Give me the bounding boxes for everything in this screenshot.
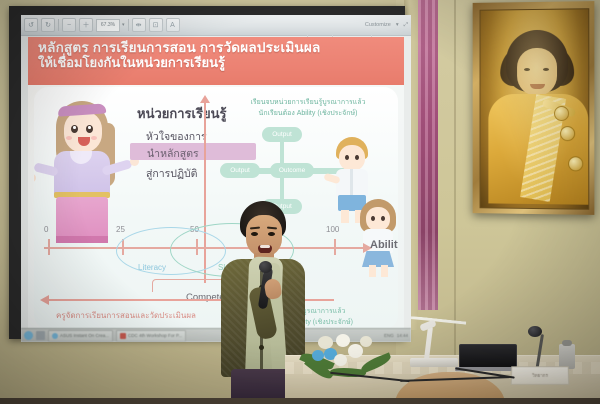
taskbar-item-label: CDC 4th Workshop For P... xyxy=(128,333,182,338)
floor xyxy=(0,398,600,404)
taskbar-item-pdf[interactable]: CDC 4th Workshop For P... xyxy=(116,330,186,342)
unit-line-2: นำหลักสูตร xyxy=(147,145,199,162)
girl-eye-right xyxy=(381,216,385,221)
presenter-eye-right xyxy=(268,232,275,236)
taskbar-item-asus[interactable]: ASUS Instant On Crea... xyxy=(48,330,113,342)
axis-tick xyxy=(48,239,50,255)
girl-eye-left xyxy=(371,216,375,221)
acrobat-toolbar[interactable]: ↺ ↻ − ＋ 67.3% ▾ ⇹ ⊡ A Customize ▾ ⤢ xyxy=(21,15,411,36)
toolbar-separator xyxy=(58,19,59,31)
flower-bloom xyxy=(334,354,347,366)
toolbar-right-group: Customize ▾ ⤢ xyxy=(365,22,408,29)
girl-cartoon xyxy=(356,199,398,277)
cartoon-cheek-right xyxy=(91,136,97,140)
unit-line-3: สู่การปฏิบัติ xyxy=(146,165,198,182)
browser-icon[interactable] xyxy=(24,331,33,340)
flower-bloom xyxy=(360,336,372,347)
girl-leg-left xyxy=(369,265,376,277)
axis-label-ability: Ability xyxy=(370,239,398,251)
diagram-stem-bottom xyxy=(280,177,284,201)
axis-tick-label: 100 xyxy=(326,225,339,234)
chevron-down-icon[interactable]: ▾ xyxy=(396,22,399,28)
zoom-control[interactable]: 67.3% ▾ xyxy=(96,19,125,32)
tray-clock[interactable]: 14:44 xyxy=(397,333,408,338)
diagram-node-output-left: Output xyxy=(220,163,260,178)
boy-shirt xyxy=(336,169,368,197)
girl-skirt xyxy=(362,251,394,267)
axis-tick-label: 0 xyxy=(44,225,48,234)
cartoon-cheek-left xyxy=(66,136,72,140)
unit-heading: หน่วยการเรียนรู้ xyxy=(137,103,226,124)
fit-width-icon[interactable]: ⇹ xyxy=(132,18,146,32)
flower-bloom xyxy=(348,344,363,358)
slide-title-banner: หลักสูตร การเรียนการสอน การวัดผลประเมินผ… xyxy=(28,37,404,85)
document-visualizer xyxy=(410,326,458,368)
mic-stand-head-icon xyxy=(528,326,542,337)
diagram-caption-line1: เรียนจบหน่วยการเรียนรู้บูรณาการแล้ว xyxy=(220,97,396,108)
projection-screen-frame: ↺ ↻ − ＋ 67.3% ▾ ⇹ ⊡ A Customize ▾ ⤢ xyxy=(9,6,405,339)
boy-leg-left xyxy=(341,210,349,223)
curtain xyxy=(418,0,438,310)
rotate-ccw-icon[interactable]: ↺ xyxy=(24,18,38,32)
royal-portrait-image xyxy=(480,8,590,210)
diagram-stem-top xyxy=(280,141,284,165)
microphone-stand xyxy=(520,326,552,372)
axis-tick-label: 25 xyxy=(116,225,125,234)
teacher-cartoon xyxy=(40,95,126,243)
axis-tick xyxy=(334,239,336,255)
microphone-head-icon xyxy=(259,261,272,273)
girl-face xyxy=(366,207,390,231)
fit-page-icon[interactable]: ⊡ xyxy=(149,18,163,32)
cartoon-face xyxy=(64,111,102,153)
bottom-red-note: ครูจัดการเรียนการสอนและวัดประเมินผล xyxy=(56,309,196,322)
literacy-label: Literacy xyxy=(138,263,166,272)
flower-bloom xyxy=(312,350,324,361)
folder-icon[interactable] xyxy=(36,331,45,340)
girl-leg-right xyxy=(381,265,388,277)
minus-icon[interactable]: − xyxy=(62,18,76,32)
slide-title-line2: ให้เชื่อมโยงกันในหน่วยการเรียนรู้ xyxy=(38,55,398,71)
cartoon-eye-left xyxy=(71,125,78,133)
visualizer-arm xyxy=(424,326,433,360)
browser-icon xyxy=(52,333,58,339)
slide-title-line1: หลักสูตร การเรียนการสอน การวัดผลประเมินผ… xyxy=(38,40,398,56)
boy-face xyxy=(339,145,365,171)
flower-arrangement xyxy=(300,330,396,378)
diagram-node-output-top: Output xyxy=(262,127,302,142)
presenter-eye-left xyxy=(251,232,258,236)
screenshot-root: ↺ ↻ − ＋ 67.3% ▾ ⇹ ⊡ A Customize ▾ ⤢ xyxy=(0,0,600,404)
diagram-caption: เรียนจบหน่วยการเรียนรู้บูรณาการแล้ว นักเ… xyxy=(220,97,396,119)
royal-portrait-frame xyxy=(473,1,595,215)
expand-icon[interactable]: ⤢ xyxy=(404,22,408,29)
toolbar-separator xyxy=(128,19,129,31)
cartoon-hand-left xyxy=(34,174,36,182)
boy-eye-right xyxy=(355,155,359,160)
chevron-down-icon[interactable]: ▾ xyxy=(122,22,125,28)
cartoon-skirt xyxy=(56,197,108,243)
cup xyxy=(559,344,575,369)
rotate-cw-icon[interactable]: ↻ xyxy=(41,18,55,32)
diagram-caption-line2: นักเรียนต้อง Ability (เชิงประจักษ์) xyxy=(220,108,396,119)
flower-bloom xyxy=(336,334,350,347)
pdf-icon xyxy=(120,333,126,339)
diagram-node-outcome: Outcome xyxy=(270,163,314,178)
portrait-glow xyxy=(481,9,589,209)
presenter-button xyxy=(259,345,264,350)
cartoon-eye-right xyxy=(86,125,93,133)
zoom-level-value[interactable]: 67.3% xyxy=(96,19,120,32)
boy-eye-left xyxy=(345,155,349,160)
taskbar-item-label: ASUS Instant On Crea... xyxy=(60,333,109,338)
visualizer-base xyxy=(410,358,458,367)
speaker-name-card: วิทยากร xyxy=(511,366,570,385)
read-mode-icon[interactable]: A xyxy=(166,18,180,32)
customize-label[interactable]: Customize xyxy=(365,22,391,28)
plus-icon[interactable]: ＋ xyxy=(79,18,93,32)
